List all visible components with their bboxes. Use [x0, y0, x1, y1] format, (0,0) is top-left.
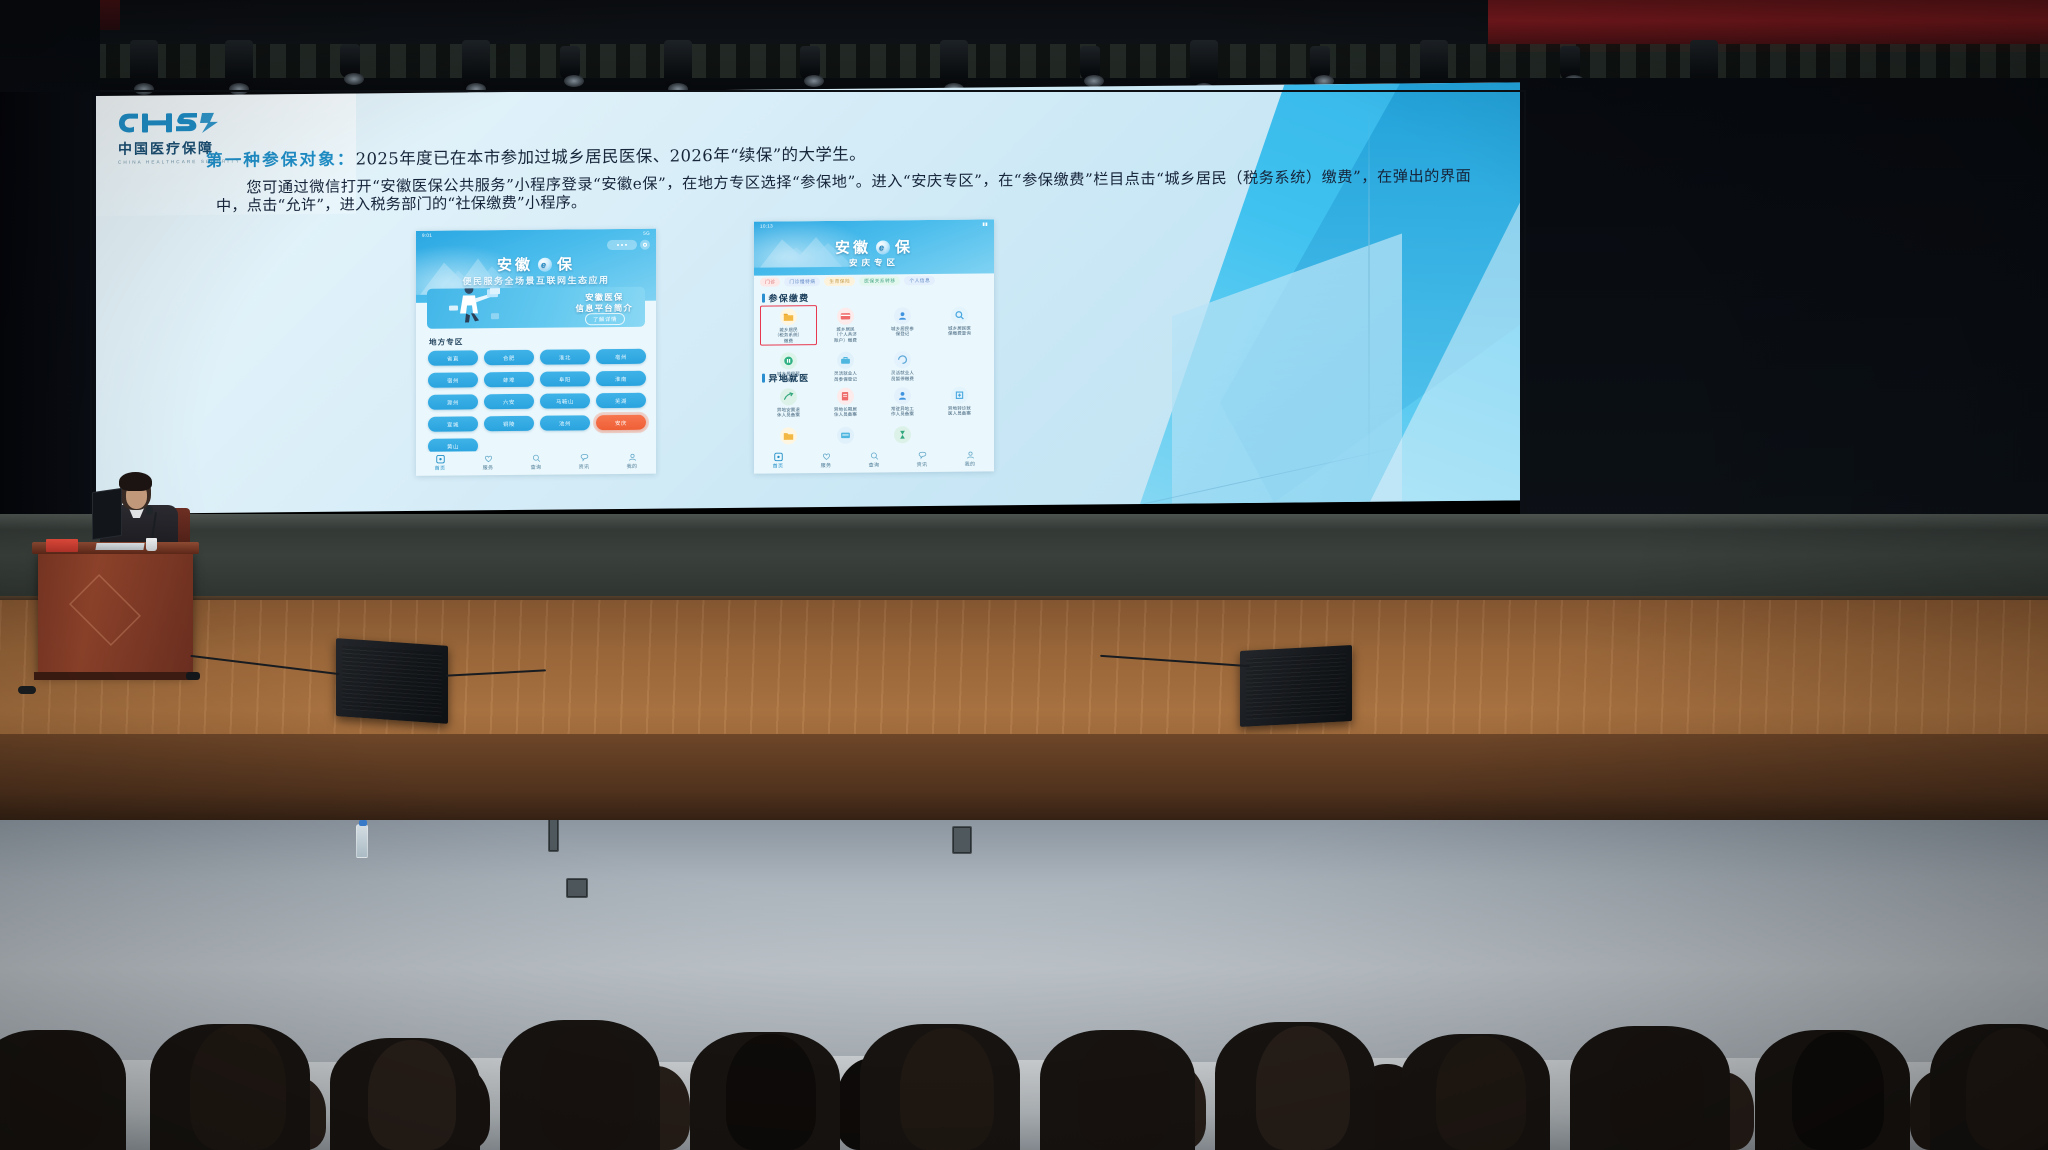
service-label: 异地长期居住人员备案 — [818, 407, 873, 418]
water-bottle — [356, 824, 368, 858]
region-label: 安庆专区 — [754, 255, 994, 269]
city-button[interactable]: 六安 — [484, 394, 534, 409]
tab-news-label: 资讯 — [579, 464, 590, 470]
card2-icon — [837, 427, 854, 444]
tab-query[interactable]: 查询 — [869, 450, 880, 468]
city-button[interactable]: 铜陵 — [484, 416, 534, 431]
service-item-tax-payment[interactable]: 城乡居民（税务系统）缴费 — [760, 305, 817, 346]
slide-title-prefix: 第一种参保对象： — [206, 150, 356, 170]
stage-lamp — [130, 40, 158, 88]
stage-lamp — [462, 40, 490, 88]
service-item-placeholder — [931, 422, 988, 447]
phone-left-statusbar: 9:01 5G — [416, 229, 656, 240]
tab-service[interactable]: 服务 — [483, 453, 494, 471]
city-button[interactable]: 蚌埠 — [484, 372, 534, 387]
tab-mine[interactable]: 我的 — [627, 452, 638, 470]
city-button[interactable]: 宿州 — [428, 372, 478, 387]
promo-text-left: 安徽医保 信息平台简介 — [576, 292, 633, 315]
audience-head-front — [190, 1024, 286, 1150]
tab-mine-label: 我的 — [627, 464, 638, 470]
search-icon — [531, 453, 541, 463]
chs-logo-mark — [118, 109, 230, 137]
slide-body: 您可通过微信打开“安徽医保公共服务”小程序登录“安徽e保”，在地方专区选择“参保… — [216, 167, 1471, 215]
stage-lamp — [340, 44, 360, 78]
audience-head-front — [1256, 1026, 1350, 1150]
doctor-icon — [449, 287, 501, 324]
city-button[interactable]: 合肥 — [484, 350, 534, 365]
tab-service-label: 服务 — [483, 465, 494, 471]
service-item-retiree-relocation[interactable]: 异地安置退休人员备案 — [760, 385, 817, 420]
chip-personal[interactable]: 个人信息 — [904, 276, 935, 285]
heart-icon — [483, 453, 493, 463]
auditorium-scene: 中国医疗保障 CHINA HEALTHCARE SECURITY 第一种参保对象… — [0, 0, 2048, 1150]
screen-surround — [0, 92, 100, 524]
capsule-close-button[interactable] — [640, 240, 650, 250]
slide-shape-right-pale — [1370, 202, 1520, 501]
card-icon — [837, 308, 854, 325]
stage-monitor-right — [1240, 645, 1352, 727]
service-label: 灵活就业人员参保登记 — [818, 371, 873, 382]
chip-chronic[interactable]: 门诊慢特病 — [784, 277, 820, 286]
tab-news[interactable]: 资讯 — [917, 450, 928, 468]
phone-right-tabbar: 首页 服务 查询 — [754, 447, 994, 471]
city-button[interactable]: 阜阳 — [540, 371, 590, 386]
podium-diamond-ornament — [69, 574, 141, 646]
tab-query[interactable]: 查询 — [531, 453, 542, 471]
briefcase-icon — [837, 352, 854, 369]
stage-front-face — [0, 734, 2048, 830]
phone-left-tabbar: 首页 服务 查询 — [416, 450, 656, 474]
slide-hairline-vertical — [1368, 104, 1370, 484]
audience-head-front — [540, 1026, 634, 1150]
home-icon — [435, 454, 445, 464]
city-button[interactable]: 淮北 — [540, 349, 590, 364]
folder-icon — [780, 308, 797, 325]
city-grid: 省直 合肥 淮北 亳州 宿州 蚌埠 阜阳 淮南 滁州 六安 马鞍山 芜湖 宣城 … — [428, 349, 646, 454]
service-item-extra-3[interactable] — [874, 423, 931, 448]
service-label: 灵活就业人员暂停缴费 — [875, 370, 930, 381]
audience-head-front — [900, 1028, 994, 1150]
referral-icon — [951, 387, 968, 404]
slide-title-rest: 2025年度已在本市参加过城乡居民医保、2026年“续保”的大学生。 — [356, 145, 866, 169]
stage-monitor-left — [336, 638, 448, 724]
lighting-truss — [0, 44, 2048, 78]
hourglass-icon — [894, 426, 911, 443]
audience-head-front — [1966, 1028, 2048, 1150]
service-label: 常驻异地工作人员备案 — [875, 406, 930, 417]
wechat-capsule-menu[interactable] — [607, 240, 650, 250]
service-label: 城乡居民参保登记 — [875, 326, 930, 337]
section-header-enrollment: 参保缴费 — [762, 291, 809, 304]
promo-banner-left[interactable]: 安徽医保 信息平台简介 了解详情 — [427, 287, 645, 329]
slide-shape-right-large — [1140, 82, 1520, 504]
chip-transfer[interactable]: 医保关系转移 — [859, 276, 900, 285]
city-button-selected[interactable]: 安庆 — [596, 415, 646, 430]
service-item-mutual-account[interactable]: 城乡居民（个人共济账户）缴费 — [817, 305, 874, 346]
tab-home[interactable]: 首页 — [435, 454, 446, 472]
stage-lamp — [560, 46, 580, 80]
service-grid-offsite: 异地安置退休人员备案 异地长期居住人员备案 常驻异地工作人员备案 — [760, 383, 988, 448]
phone-left-tagline: 便民服务全场景互联网生态应用 — [416, 273, 656, 288]
city-button[interactable]: 池州 — [540, 415, 590, 430]
service-item-extra-1[interactable] — [760, 424, 817, 449]
hall-wall-right — [1520, 78, 2048, 538]
chip-outpatient[interactable]: 门诊 — [760, 277, 780, 286]
capsule-more-button[interactable] — [607, 240, 637, 250]
tab-home-label: 首页 — [435, 466, 446, 472]
news-icon — [917, 450, 927, 460]
service-label: 城乡居民医保缴费查询 — [932, 325, 987, 336]
water-cup — [146, 538, 157, 551]
brand-text-1: 安徽 — [835, 237, 871, 258]
news-icon — [579, 452, 589, 462]
podium — [38, 552, 193, 674]
person-icon — [894, 387, 911, 404]
stage-lamp — [225, 40, 253, 88]
stage-lamp — [1190, 40, 1218, 88]
city-button[interactable]: 马鞍山 — [540, 393, 590, 408]
tab-home[interactable]: 首页 — [773, 451, 784, 469]
search-icon — [869, 450, 879, 460]
status-time: 9:01 — [422, 233, 432, 238]
city-button[interactable]: 省直 — [428, 350, 478, 365]
slide-shape-right-dark — [1220, 82, 1520, 503]
service-item-referral[interactable]: 异地转诊就医人员备案 — [931, 383, 988, 418]
stage-lamp — [1310, 46, 1330, 80]
brand-text-2: 保 — [895, 236, 913, 257]
stage-lamp — [1080, 46, 1100, 80]
service-item-flexible-suspend[interactable]: 灵活就业人员暂停缴费 — [874, 348, 931, 383]
service-item-flexible-registration[interactable]: 灵活就业人员参保登记 — [817, 349, 874, 384]
service-item-registration[interactable]: 城乡居民参保登记 — [874, 304, 931, 345]
chip-maternity[interactable]: 生育保险 — [824, 277, 855, 286]
cable-connector — [18, 686, 36, 694]
phone-mockup-right: 10:13 ▮▮ 安徽 e 保 安庆专区 — [754, 219, 994, 473]
transfer-icon — [780, 388, 797, 405]
podium-name-plate — [46, 539, 78, 552]
service-item-longterm-resident[interactable]: 异地长期居住人员备案 — [817, 385, 874, 420]
service-item-placeholder — [931, 348, 988, 383]
presentation-slide: 中国医疗保障 CHINA HEALTHCARE SECURITY 第一种参保对象… — [96, 82, 1520, 514]
tab-service[interactable]: 服务 — [821, 451, 832, 469]
person-add-icon — [894, 307, 911, 324]
stage-lamp — [664, 40, 692, 88]
promo-learn-more-button[interactable]: 了解详情 — [585, 313, 625, 325]
bottle-cap — [359, 820, 367, 826]
projection-screen: 中国医疗保障 CHINA HEALTHCARE SECURITY 第一种参保对象… — [96, 96, 1520, 514]
audience-head-front — [10, 1032, 102, 1150]
tab-news[interactable]: 资讯 — [579, 452, 590, 470]
audience-phone-raised — [952, 826, 972, 854]
pause-icon — [780, 352, 797, 369]
city-button[interactable]: 宣城 — [428, 416, 478, 431]
section-bar — [762, 374, 765, 383]
audience-head-front — [1078, 1032, 1170, 1150]
service-item-payment-query[interactable]: 城乡居民医保缴费查询 — [931, 303, 988, 344]
phone-mockup-left: 9:01 5G 安徽 e — [416, 229, 656, 476]
phone-right-hero: 10:13 ▮▮ 安徽 e 保 安庆专区 — [754, 219, 994, 275]
city-button[interactable]: 亳州 — [596, 349, 646, 364]
doc-edit-icon — [837, 388, 854, 405]
audience-head-front — [1436, 1036, 1526, 1150]
brand-e-badge: e — [876, 240, 890, 254]
status-icons: ▮▮ — [982, 221, 988, 227]
heart-icon — [821, 451, 831, 461]
city-button[interactable]: 芜湖 — [596, 393, 646, 408]
section-title: 异地就医 — [769, 371, 810, 384]
podium-papers — [95, 543, 144, 550]
tab-query-label: 查询 — [869, 462, 880, 468]
tab-mine[interactable]: 我的 — [965, 450, 976, 468]
status-signal: 5G — [643, 231, 650, 236]
audience-head-front — [1610, 1030, 1704, 1150]
cable-connector — [186, 672, 200, 680]
person-icon — [627, 452, 637, 462]
podium-base — [34, 672, 197, 680]
slide-paragraph: 您可通过微信打开“安徽医保公共服务”小程序登录“安徽e保”，在地方专区选择“参保… — [216, 167, 1471, 215]
tab-home-label: 首页 — [773, 463, 784, 469]
stage-backdrop-highlight — [0, 514, 2048, 530]
local-zone-label: 地方专区 — [429, 336, 463, 347]
audience-area — [0, 820, 2048, 1150]
tab-query-label: 查询 — [531, 465, 542, 471]
query-icon — [951, 307, 968, 324]
service-label: 异地安置退休人员备案 — [761, 407, 816, 418]
tab-news-label: 资讯 — [917, 462, 928, 468]
tab-mine-label: 我的 — [965, 462, 976, 468]
section-bar — [762, 294, 765, 303]
city-button[interactable]: 滁州 — [428, 394, 478, 409]
service-item-stationed-worker[interactable]: 常驻异地工作人员备案 — [874, 384, 931, 419]
brand-text-2: 保 — [557, 253, 575, 274]
stage-lamp — [800, 46, 820, 80]
tab-service-label: 服务 — [821, 463, 832, 469]
audience-head-front — [368, 1040, 456, 1150]
section-header-offsite: 异地就医 — [762, 371, 809, 384]
person-icon — [965, 450, 975, 460]
audience-tablet — [566, 878, 588, 898]
city-button[interactable]: 淮南 — [596, 371, 646, 386]
promo-line-1: 安徽医保 — [576, 292, 633, 304]
folder2-icon — [780, 427, 797, 444]
brand-e-badge: e — [538, 257, 552, 271]
service-item-extra-2[interactable] — [817, 423, 874, 448]
doctor-illustration — [449, 287, 501, 329]
speaker-hair — [119, 472, 152, 491]
audience-head-front — [1792, 1032, 1884, 1150]
service-label: 城乡居民（个人共济账户）缴费 — [818, 327, 873, 344]
stage-lamp — [1560, 46, 1580, 80]
stage-lamp — [940, 40, 968, 88]
audience-phone-raised — [548, 820, 559, 852]
brand-text-1: 安徽 — [497, 254, 533, 275]
stop-icon — [894, 351, 911, 368]
slide-title: 第一种参保对象：2025年度已在本市参加过城乡居民医保、2026年“续保”的大学… — [206, 141, 866, 171]
category-chips: 门诊 门诊慢特病 生育保险 医保关系转移 个人信息 — [760, 275, 988, 286]
stage-lamp — [1420, 40, 1448, 88]
podium-laptop-screen — [92, 488, 122, 540]
audience-head-front — [726, 1034, 816, 1150]
service-label: 异地转诊就医人员备案 — [932, 405, 987, 416]
service-label: 城乡居民（税务系统）缴费 — [761, 327, 816, 344]
section-title: 参保缴费 — [769, 291, 810, 304]
home-icon — [773, 451, 783, 461]
microphone-head — [146, 506, 153, 515]
